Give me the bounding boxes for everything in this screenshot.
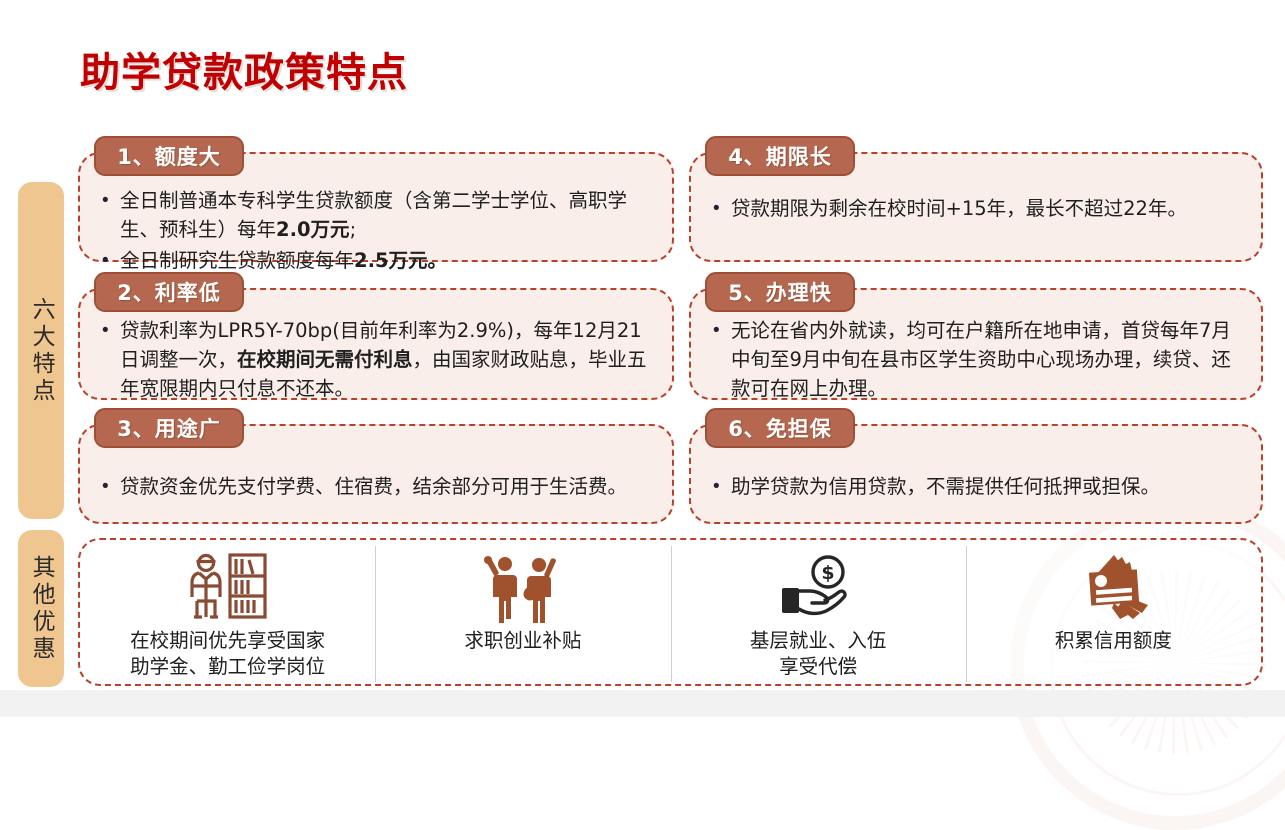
feature-card-4: 4、期限长 • 贷款期限为剩余在校时间+15年，最长不超过22年。 bbox=[689, 152, 1263, 262]
bullet-text: 全日制研究生贷款额度每年2.5万元。 bbox=[120, 246, 658, 275]
bullet-marker: • bbox=[709, 472, 731, 501]
feature-card-5-title: 5、办理快 bbox=[705, 272, 855, 312]
feature-card-3-title: 3、用途广 bbox=[94, 408, 244, 448]
bullet-item: • 贷款利率为LPR5Y-70bp(目前年利率为2.9%)，每年12月21日调整… bbox=[98, 316, 658, 403]
rail-label-six-features: 六大特点 bbox=[29, 297, 53, 405]
hand-coin-icon: $ bbox=[778, 552, 858, 624]
feature-card-4-body: • 贷款期限为剩余在校时间+15年，最长不超过22年。 bbox=[709, 194, 1247, 225]
benefit-item-4: 积累信用额度 bbox=[966, 540, 1261, 684]
bullet-marker: • bbox=[98, 316, 120, 345]
bullet-marker: • bbox=[709, 194, 731, 223]
benefit-item-1: 在校期间优先享受国家 助学金、勤工俭学岗位 bbox=[80, 540, 375, 684]
svg-text:$: $ bbox=[822, 562, 835, 584]
bullet-text: 助学贷款为信用贷款，不需提供任何抵押或担保。 bbox=[731, 472, 1247, 501]
bullet-item: • 贷款期限为剩余在校时间+15年，最长不超过22年。 bbox=[709, 194, 1247, 223]
feature-card-6: 6、免担保 • 助学贷款为信用贷款，不需提供任何抵押或担保。 bbox=[689, 424, 1263, 524]
bullet-text: 全日制普通本专科学生贷款额度（含第二学士学位、高职学生、预科生）每年2.0万元; bbox=[120, 186, 658, 244]
feature-card-2: 2、利率低 • 贷款利率为LPR5Y-70bp(目前年利率为2.9%)，每年12… bbox=[78, 288, 674, 400]
bullet-marker: • bbox=[98, 186, 120, 215]
bullet-item: • 助学贷款为信用贷款，不需提供任何抵押或担保。 bbox=[709, 472, 1247, 501]
feature-card-5-body: • 无论在省内外就读，均可在户籍所在地申请，首贷每年7月中旬至9月中旬在县市区学… bbox=[709, 316, 1247, 405]
bullet-item: • 贷款资金优先支付学费、住宿费，结余部分可用于生活费。 bbox=[98, 472, 658, 501]
bullet-marker: • bbox=[98, 472, 120, 501]
bullet-item: • 全日制研究生贷款额度每年2.5万元。 bbox=[98, 246, 658, 275]
feature-card-2-title: 2、利率低 bbox=[94, 272, 244, 312]
rail-six-features: 六大特点 bbox=[18, 182, 64, 519]
bullet-text: 无论在省内外就读，均可在户籍所在地申请，首贷每年7月中旬至9月中旬在县市区学生资… bbox=[731, 316, 1247, 403]
bullet-text: 贷款利率为LPR5Y-70bp(目前年利率为2.9%)，每年12月21日调整一次… bbox=[120, 316, 658, 403]
bullet-marker: • bbox=[709, 316, 731, 345]
bullet-text: 贷款期限为剩余在校时间+15年，最长不超过22年。 bbox=[731, 194, 1247, 223]
feature-card-1-body: • 全日制普通本专科学生贷款额度（含第二学士学位、高职学生、预科生）每年2.0万… bbox=[98, 186, 658, 277]
feature-card-6-body: • 助学贷款为信用贷款，不需提供任何抵押或担保。 bbox=[709, 472, 1247, 503]
feature-card-3-body: • 贷款资金优先支付学费、住宿费，结余部分可用于生活费。 bbox=[98, 472, 658, 503]
footer-band bbox=[0, 690, 1285, 717]
credit-cards-icon bbox=[1070, 552, 1156, 624]
benefit-label-1: 在校期间优先享受国家 助学金、勤工俭学岗位 bbox=[130, 628, 325, 680]
rail-label-other-benefits: 其他优惠 bbox=[29, 555, 53, 663]
feature-card-1: 1、额度大 • 全日制普通本专科学生贷款额度（含第二学士学位、高职学生、预科生）… bbox=[78, 152, 674, 262]
feature-card-5: 5、办理快 • 无论在省内外就读，均可在户籍所在地申请，首贷每年7月中旬至9月中… bbox=[689, 288, 1263, 400]
page-title: 助学贷款政策特点 bbox=[80, 40, 408, 98]
bullet-item: • 无论在省内外就读，均可在户籍所在地申请，首贷每年7月中旬至9月中旬在县市区学… bbox=[709, 316, 1247, 403]
rail-other-benefits: 其他优惠 bbox=[18, 530, 64, 687]
student-bookshelf-icon bbox=[185, 552, 271, 624]
benefit-label-4: 积累信用额度 bbox=[1055, 628, 1172, 654]
benefit-item-3: $ 基层就业、入伍 享受代偿 bbox=[671, 540, 966, 684]
bullet-item: • 全日制普通本专科学生贷款额度（含第二学士学位、高职学生、预科生）每年2.0万… bbox=[98, 186, 658, 244]
other-benefits-strip: 在校期间优先享受国家 助学金、勤工俭学岗位 bbox=[78, 538, 1263, 686]
feature-card-3: 3、用途广 • 贷款资金优先支付学费、住宿费，结余部分可用于生活费。 bbox=[78, 424, 674, 524]
feature-card-4-title: 4、期限长 bbox=[705, 136, 855, 176]
bullet-text: 贷款资金优先支付学费、住宿费，结余部分可用于生活费。 bbox=[120, 472, 658, 501]
benefit-item-2: 求职创业补贴 bbox=[375, 540, 670, 684]
bullet-marker: • bbox=[98, 246, 120, 275]
feature-card-1-title: 1、额度大 bbox=[94, 136, 244, 176]
feature-card-6-title: 6、免担保 bbox=[705, 408, 855, 448]
job-seekers-icon bbox=[484, 552, 562, 624]
benefit-label-3: 基层就业、入伍 享受代偿 bbox=[750, 628, 887, 680]
feature-card-2-body: • 贷款利率为LPR5Y-70bp(目前年利率为2.9%)，每年12月21日调整… bbox=[98, 316, 658, 405]
benefit-label-2: 求职创业补贴 bbox=[464, 628, 581, 654]
